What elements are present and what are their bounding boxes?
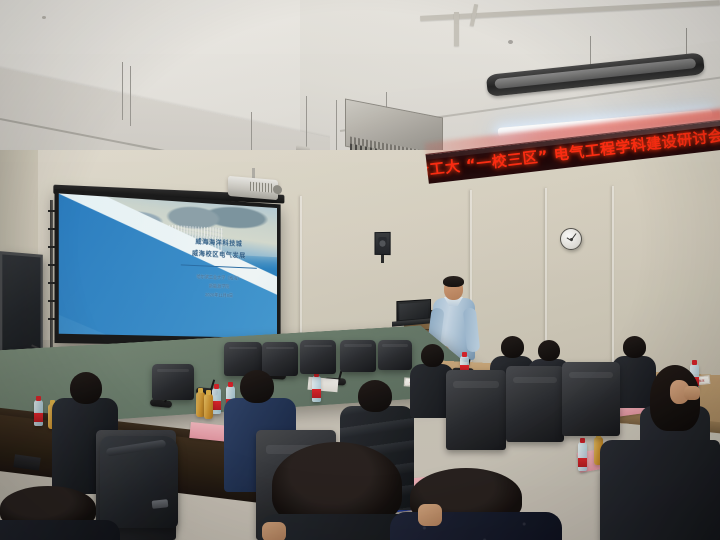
attendee-head [538, 340, 560, 361]
slide-content: 威海海洋科技城 威海校区电气发展 哈尔滨工业大学（威海） 新能源学院 2020年… [59, 193, 277, 338]
ceiling-hanger-1 [122, 62, 123, 120]
attendee-head [421, 344, 444, 367]
slide-text-block: 威海海洋科技城 威海校区电气发展 哈尔滨工业大学（威海） 新能源学院 2020年… [165, 234, 270, 301]
clock-center-pin [570, 238, 573, 241]
chair [446, 370, 506, 450]
bottle-label [312, 389, 321, 398]
laptop-screen [399, 302, 428, 320]
water-bottle [212, 388, 221, 414]
tea-bottle [204, 394, 213, 419]
chair [340, 340, 376, 372]
chair [562, 362, 620, 436]
wall-clock [560, 228, 582, 250]
chair [378, 340, 412, 370]
ceiling-projector [228, 176, 278, 200]
chair [152, 364, 194, 400]
water-bottle [578, 442, 587, 471]
ceiling-hanger-2 [130, 66, 131, 126]
attendee-head [501, 336, 524, 358]
bottle-label [212, 401, 221, 410]
attendee-head [358, 380, 392, 412]
tv-screen [2, 254, 40, 351]
attendee-shoulders [0, 520, 120, 540]
conference-room-photo: 威海海洋科技城 威海校区电气发展 哈尔滨工业大学（威海） 新能源学院 2020年… [0, 0, 720, 540]
ceiling-sensor-3 [508, 40, 513, 44]
attendee-foreground [0, 486, 110, 540]
attendee-head [70, 372, 102, 404]
wall-mounted-tv[interactable] [0, 251, 43, 355]
screen-side-rail [50, 200, 53, 348]
water-bottle [312, 376, 321, 402]
attendee-foreground [600, 440, 720, 540]
attendee-hand [262, 522, 286, 540]
projector-vents [250, 182, 272, 193]
chair [300, 340, 336, 374]
presenter-hair [443, 276, 464, 287]
attendee-head [623, 336, 646, 358]
attendee-coat [390, 512, 562, 540]
projection-screen[interactable]: 威海海洋科技城 威海校区电气发展 哈尔滨工业大学（威海） 新能源学院 2020年… [55, 189, 281, 347]
attendee-hand [684, 386, 700, 400]
water-bottle [34, 400, 43, 426]
wall-speaker-bracket [381, 255, 384, 263]
attendee-foreground [272, 442, 402, 540]
ceiling-sensor-1 [42, 16, 46, 19]
backpack-zip-pull [152, 499, 169, 509]
attendee-head [240, 370, 274, 403]
wall-speaker-icon [374, 232, 390, 255]
ceiling-pipe-drop [454, 12, 459, 46]
bottle-label [34, 413, 43, 422]
bottle-label [578, 458, 587, 467]
chair [506, 366, 564, 442]
attendee-hand [418, 504, 442, 526]
slide-divider [181, 264, 257, 269]
